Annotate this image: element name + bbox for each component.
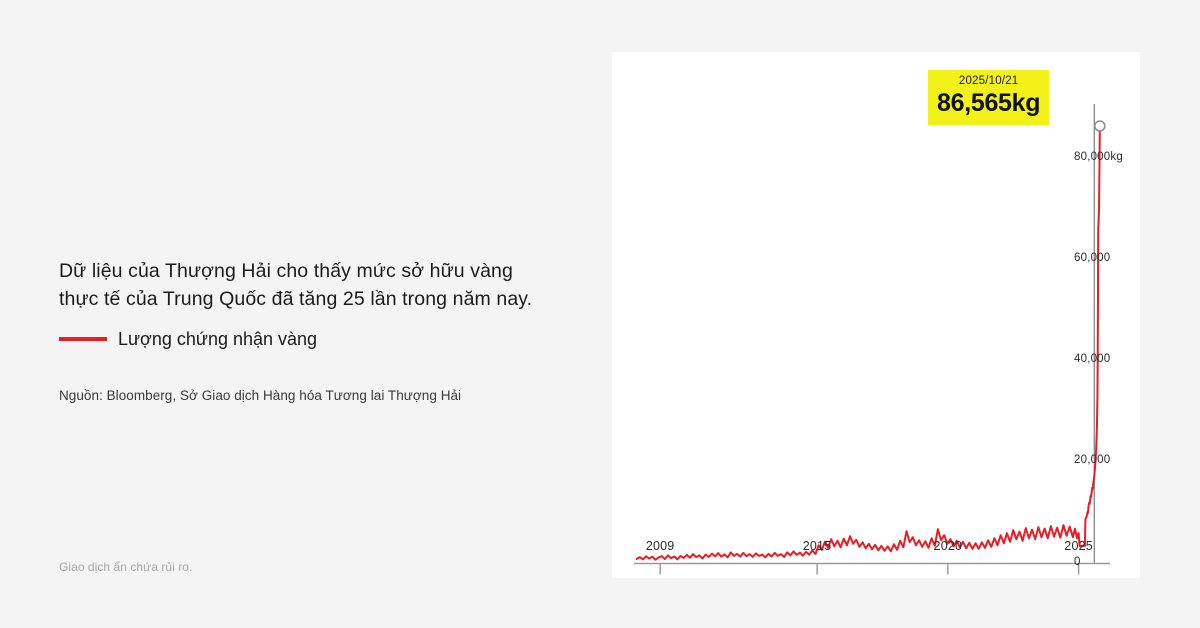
headline-line-2: thực tế của Trung Quốc đã tăng 25 lần tr… <box>59 285 579 313</box>
y-axis-tick-label: 60,000 <box>1074 252 1110 264</box>
endpoint-marker-icon <box>1095 121 1105 131</box>
legend-color-swatch <box>59 337 107 341</box>
x-axis-tick-label: 2009 <box>646 539 675 553</box>
disclaimer-note: Giao dịch ẩn chứa rủi ro. <box>59 560 192 574</box>
annotation-date: 2025/10/21 <box>937 74 1040 89</box>
gold-certificate-series <box>637 126 1100 560</box>
x-axis-tick-label: 2015 <box>803 539 832 553</box>
annotation-callout: 2025/10/21 86,565kg <box>928 70 1049 125</box>
headline-line-1: Dữ liệu của Thượng Hải cho thấy mức sở h… <box>59 257 579 285</box>
headline: Dữ liệu của Thượng Hải cho thấy mức sở h… <box>59 257 579 313</box>
x-axis-tickmarks <box>660 564 1078 575</box>
y-axis-tick-label: 20,000 <box>1074 454 1110 466</box>
legend-label: Lượng chứng nhận vàng <box>118 328 317 350</box>
y-axis-tick-label: 0 <box>1074 556 1081 568</box>
legend: Lượng chứng nhận vàng <box>59 328 317 350</box>
annotation-value: 86,565kg <box>937 89 1040 118</box>
plot-area <box>612 52 1140 578</box>
x-axis-tick-label: 2025 <box>1064 539 1093 553</box>
x-axis-tick-label: 2020 <box>934 539 963 553</box>
source-note: Nguồn: Bloomberg, Sở Giao dịch Hàng hóa … <box>59 388 461 403</box>
y-axis-tick-label: 80,000kg <box>1074 151 1123 163</box>
chart-panel: 80,000kg60,00040,00020,0000 200920152020… <box>612 52 1140 578</box>
editorial-column: Dữ liệu của Thượng Hải cho thấy mức sở h… <box>0 0 612 628</box>
y-axis-tick-label: 40,000 <box>1074 353 1110 365</box>
line-chart-svg <box>612 52 1140 578</box>
